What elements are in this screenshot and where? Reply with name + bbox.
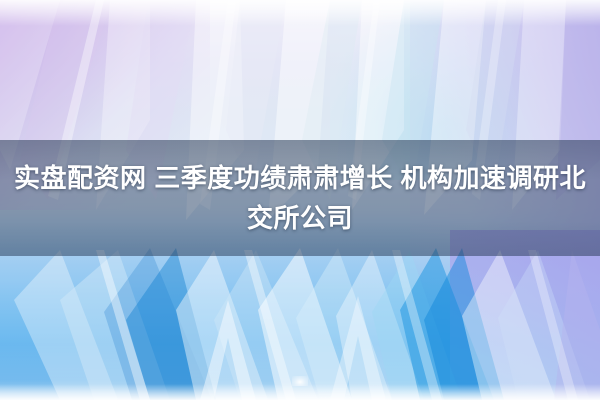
headline-line-1: 实盘配资网 三季度功绩肃肃增长 机构加速调研北 [0,158,600,198]
headline-overlay-band: 实盘配资网 三季度功绩肃肃增长 机构加速调研北 交所公司 [0,140,600,256]
background-top-highlight [0,0,600,26]
headline-banner: 实盘配资网 三季度功绩肃肃增长 机构加速调研北 交所公司 [0,0,600,400]
background-bottom-highlight [0,384,600,400]
headline-line-2: 交所公司 [0,198,600,238]
